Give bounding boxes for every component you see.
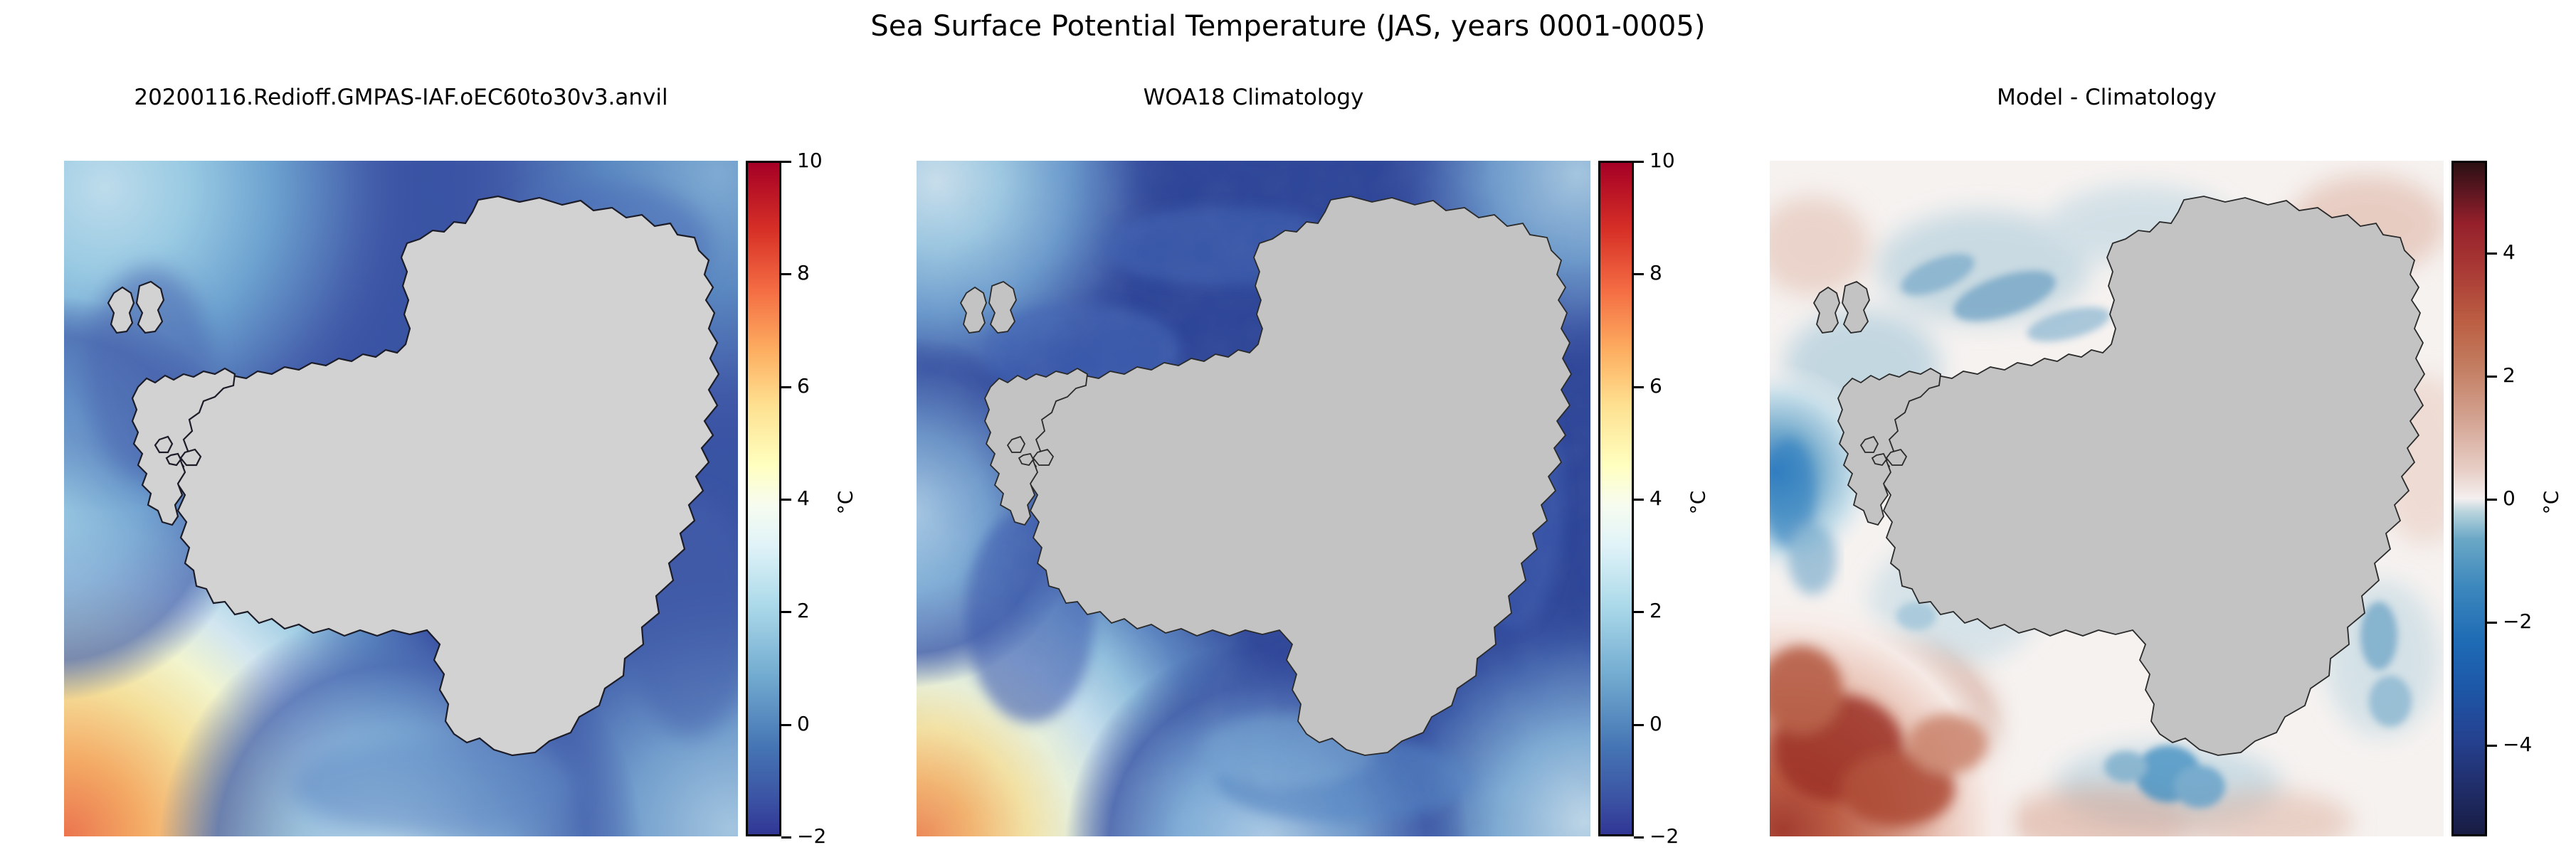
colorbar-tick-label: −2 <box>2503 612 2532 632</box>
colorbar-tick-label: 2 <box>1649 601 1662 621</box>
colorbar-model <box>746 161 781 836</box>
map-axes-climatology <box>917 161 1590 836</box>
map-axes-difference <box>1770 161 2444 836</box>
colorbar-tick-label: 0 <box>1649 714 1662 734</box>
colorbar-unit-difference: °C <box>2539 491 2562 515</box>
colorbar-tick-label: −2 <box>797 826 826 846</box>
colorbar-unit-climatology: °C <box>1686 491 1709 515</box>
colorbar-tick-label: 8 <box>797 263 810 283</box>
colorbar-tick-label: 6 <box>797 376 810 396</box>
colorbar-tick-label: 4 <box>2503 243 2516 262</box>
colorbar-tick-label: −4 <box>2503 735 2532 755</box>
panel-title-difference: Model - Climatology <box>1770 85 2444 110</box>
map-canvas-model <box>64 161 738 836</box>
colorbar-tick-label: 6 <box>1649 376 1662 396</box>
map-canvas-climatology <box>917 161 1590 836</box>
colorbar-tick-label: −2 <box>1649 826 1679 846</box>
colorbar-tick-label: 2 <box>2503 366 2516 385</box>
colorbar-unit-model: °C <box>833 491 857 515</box>
map-axes-model <box>64 161 738 836</box>
figure-canvas: Sea Surface Potential Temperature (JAS, … <box>0 0 2576 862</box>
colorbar-tick-label: 2 <box>797 601 810 621</box>
colorbar-tick-label: 4 <box>1649 489 1662 509</box>
colorbar-climatology <box>1598 161 1634 836</box>
map-canvas-difference <box>1770 161 2444 836</box>
figure-suptitle: Sea Surface Potential Temperature (JAS, … <box>0 10 2576 43</box>
colorbar-tick-label: 0 <box>2503 489 2516 509</box>
colorbar-tick-label: 4 <box>797 489 810 509</box>
colorbar-difference <box>2451 161 2487 836</box>
colorbar-tick-label: 8 <box>1649 263 1662 283</box>
colorbar-tick-label: 10 <box>1649 151 1675 171</box>
colorbar-tick-label: 10 <box>797 151 823 171</box>
panel-title-climatology: WOA18 Climatology <box>917 85 1590 110</box>
panel-title-model: 20200116.Redioff.GMPAS-IAF.oEC60to30v3.a… <box>64 85 738 110</box>
colorbar-tick-label: 0 <box>797 714 810 734</box>
